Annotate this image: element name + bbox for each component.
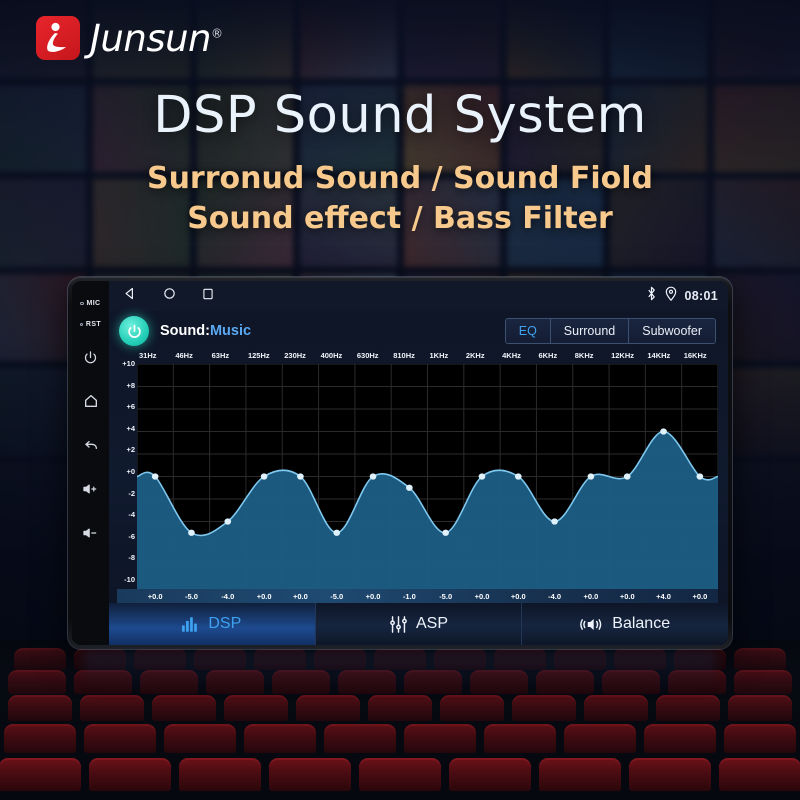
frequency-label: 46Hz — [173, 351, 209, 360]
tab-dsp-label: DSP — [208, 615, 241, 633]
theater-seat — [296, 695, 360, 721]
gain-value-label: -4.0 — [210, 592, 246, 601]
gain-axis-tick: +0 — [126, 467, 135, 476]
status-bar: 08:01 — [109, 281, 728, 311]
gain-axis-labels: +10+8+6+4+2+0-2-4-6-8-10 — [117, 359, 137, 584]
theater-seat — [484, 724, 556, 753]
equalizer-band-handle[interactable] — [660, 428, 667, 434]
equalizer-band-handle[interactable] — [297, 473, 304, 479]
equalizer-plot-area: +10+8+6+4+2+0-2-4-6-8-10 — [117, 364, 718, 589]
equalizer-band-handle[interactable] — [697, 473, 704, 479]
gain-axis-tick: +4 — [126, 424, 135, 433]
equalizer-band-handle[interactable] — [442, 530, 449, 536]
bluetooth-icon — [646, 286, 657, 306]
frequency-label: 63Hz — [210, 351, 246, 360]
gain-axis-tick: -10 — [124, 575, 135, 584]
equalizer-curve-svg[interactable] — [137, 364, 718, 589]
device-side-buttons: MIC RST — [72, 281, 109, 645]
theater-seat — [629, 758, 711, 791]
theater-seat — [224, 695, 288, 721]
brand-name: Junsun® — [90, 17, 223, 60]
home-icon[interactable] — [83, 379, 99, 423]
page-subtitle: Surronud Sound / Sound Fiold Sound effec… — [0, 159, 800, 238]
frequency-label: 810Hz — [391, 351, 427, 360]
theater-seat — [8, 670, 66, 694]
mic-label: MIC — [86, 300, 100, 307]
frequency-label: 12KHz — [609, 351, 645, 360]
frequency-labels: 31Hz46Hz63Hz125Hz230Hz400Hz630Hz810Hz1KH… — [137, 351, 718, 360]
subtitle-line-2: Sound effect / Bass Filter — [0, 199, 800, 239]
tab-dsp[interactable]: DSP — [109, 603, 316, 645]
theater-seat — [564, 724, 636, 753]
gain-axis-tick: -8 — [128, 553, 135, 562]
frequency-label: 400Hz — [319, 351, 355, 360]
mic-led-indicator: MIC — [80, 293, 100, 314]
mode-button-subwoofer[interactable]: Subwoofer — [629, 319, 715, 343]
gain-value-label: -5.0 — [319, 592, 355, 601]
equalizer-panel: 31Hz46Hz63Hz125Hz230Hz400Hz630Hz810Hz1KH… — [117, 351, 718, 603]
volume-up-icon[interactable] — [82, 467, 99, 511]
gain-axis-tick: -4 — [128, 510, 135, 519]
equalizer-bars-icon — [182, 617, 200, 632]
power-toggle-icon[interactable] — [119, 316, 149, 346]
car-head-unit-device: MIC RST — [68, 277, 732, 649]
gain-axis-tick: -2 — [128, 489, 135, 498]
mode-button-eq[interactable]: EQ — [506, 319, 551, 343]
headline-block: DSP Sound System Surronud Sound / Sound … — [0, 86, 800, 238]
theater-seat — [0, 758, 81, 791]
status-clock: 08:01 — [685, 289, 718, 303]
sound-value-text: Music — [210, 323, 251, 339]
mic-led-dot-icon — [80, 302, 84, 306]
status-bar-right: 08:01 — [646, 286, 718, 306]
theater-seat — [440, 695, 504, 721]
frequency-label: 630Hz — [355, 351, 391, 360]
frequency-label: 16KHz — [682, 351, 718, 360]
subtitle-line-1: Surronud Sound / Sound Fiold — [0, 159, 800, 199]
power-icon[interactable] — [83, 335, 98, 379]
sliders-icon — [389, 616, 408, 633]
theater-seat — [734, 670, 792, 694]
gain-value-label: +0.0 — [282, 592, 318, 601]
theater-seat — [89, 758, 171, 791]
theater-seat — [244, 724, 316, 753]
gain-value-label: +4.0 — [645, 592, 681, 601]
page-title: DSP Sound System — [0, 86, 800, 145]
frequency-label-row: 31Hz46Hz63Hz125Hz230Hz400Hz630Hz810Hz1KH… — [117, 351, 718, 364]
device-reflection — [84, 652, 716, 696]
volume-down-icon[interactable] — [82, 511, 99, 555]
equalizer-band-handle[interactable] — [624, 473, 631, 479]
gain-value-label: +0.0 — [355, 592, 391, 601]
android-home-circle-icon[interactable] — [162, 286, 177, 306]
android-recents-square-icon[interactable] — [201, 287, 215, 306]
gain-value-label: +0.0 — [246, 592, 282, 601]
gain-axis-tick: +2 — [126, 445, 135, 454]
theater-seat — [269, 758, 351, 791]
location-pin-icon — [665, 286, 677, 306]
brand-logo: Junsun® — [36, 16, 223, 60]
frequency-label: 31Hz — [137, 351, 173, 360]
gain-value-label: +0.0 — [609, 592, 645, 601]
reset-led-dot-icon — [80, 323, 84, 327]
gain-value-label: +0.0 — [137, 592, 173, 601]
theater-seat — [728, 695, 792, 721]
junsun-logo-mark-icon — [36, 16, 80, 60]
equalizer-band-handle[interactable] — [261, 473, 268, 479]
speaker-waves-icon — [580, 616, 604, 633]
gain-value-label: -5.0 — [173, 592, 209, 601]
theater-seat — [584, 695, 648, 721]
theater-seat — [719, 758, 800, 791]
theater-seat — [359, 758, 441, 791]
gain-value-label: +0.0 — [682, 592, 718, 601]
theater-seat — [4, 724, 76, 753]
gain-value-label: -5.0 — [428, 592, 464, 601]
theater-seat — [164, 724, 236, 753]
equalizer-curve-plot[interactable] — [137, 364, 718, 589]
equalizer-band-handle[interactable] — [333, 530, 340, 536]
sound-source-label: Sound:Music — [160, 323, 251, 339]
gain-value-label: +0.0 — [500, 592, 536, 601]
brand-name-text: Junsun — [90, 17, 211, 60]
frequency-label: 1KHz — [428, 351, 464, 360]
sound-label-text: Sound: — [160, 323, 210, 339]
theater-seat — [724, 724, 796, 753]
gain-axis-tick: +10 — [122, 359, 135, 368]
equalizer-band-handle[interactable] — [551, 518, 558, 524]
android-nav-buttons — [123, 286, 215, 306]
tab-balance-label: Balance — [612, 615, 670, 633]
theater-seat-row — [0, 724, 800, 753]
tab-balance[interactable]: Balance — [522, 603, 728, 645]
android-back-triangle-icon[interactable] — [123, 286, 138, 306]
reset-label: RST — [86, 321, 101, 328]
registered-mark: ® — [211, 26, 223, 40]
equalizer-band-handle[interactable] — [370, 473, 377, 479]
logo-figure-icon — [36, 16, 80, 60]
sound-mode-row: Sound:Music EQ Surround Subwoofer — [109, 311, 728, 351]
frequency-label: 4KHz — [500, 351, 536, 360]
tab-asp[interactable]: ASP — [316, 603, 523, 645]
theater-seat — [734, 648, 786, 670]
gain-value-label: +0.0 — [573, 592, 609, 601]
theater-seat — [656, 695, 720, 721]
theater-seat — [324, 724, 396, 753]
frequency-label: 8KHz — [573, 351, 609, 360]
equalizer-band-handle[interactable] — [152, 473, 159, 479]
gain-axis-tick: -6 — [128, 532, 135, 541]
equalizer-band-handle[interactable] — [406, 485, 413, 491]
back-icon[interactable] — [83, 423, 99, 467]
theater-seat — [80, 695, 144, 721]
tab-asp-label: ASP — [416, 615, 448, 633]
mode-button-surround[interactable]: Surround — [551, 319, 629, 343]
equalizer-band-handle[interactable] — [188, 530, 195, 536]
theater-seat — [152, 695, 216, 721]
equalizer-band-handle[interactable] — [588, 473, 595, 479]
frequency-label: 6KHz — [536, 351, 572, 360]
gain-axis-tick: +8 — [126, 381, 135, 390]
gain-value-label: +0.0 — [464, 592, 500, 601]
equalizer-band-handle[interactable] — [515, 473, 522, 479]
theater-seat — [8, 695, 72, 721]
theater-seat-row — [0, 758, 800, 791]
theater-seat — [539, 758, 621, 791]
equalizer-band-handle[interactable] — [224, 518, 231, 524]
frequency-label: 230Hz — [282, 351, 318, 360]
gain-value-label: -4.0 — [536, 592, 572, 601]
device-screen-area: MIC RST — [72, 281, 728, 645]
theater-seat — [368, 695, 432, 721]
bottom-tab-bar: DSP ASP — [109, 603, 728, 645]
gain-value-row: +0.0-5.0-4.0+0.0+0.0-5.0+0.0-1.0-5.0+0.0… — [117, 589, 718, 603]
theater-seat-row — [4, 695, 796, 721]
frequency-label: 2KHz — [464, 351, 500, 360]
theater-seat — [179, 758, 261, 791]
theater-seat — [14, 648, 66, 670]
reset-led-indicator: RST — [80, 314, 101, 335]
equalizer-band-handle[interactable] — [479, 473, 486, 479]
theater-seat — [404, 724, 476, 753]
frequency-label: 14KHz — [645, 351, 681, 360]
gain-value-label: -1.0 — [391, 592, 427, 601]
theater-seat — [84, 724, 156, 753]
head-unit-ui: 08:01 Sound:Music EQ Surround Subwoofer — [109, 281, 728, 645]
sound-mode-buttons: EQ Surround Subwoofer — [505, 318, 716, 344]
frequency-label: 125Hz — [246, 351, 282, 360]
theater-seat — [644, 724, 716, 753]
theater-seat — [512, 695, 576, 721]
gain-axis-tick: +6 — [126, 402, 135, 411]
theater-seat — [449, 758, 531, 791]
